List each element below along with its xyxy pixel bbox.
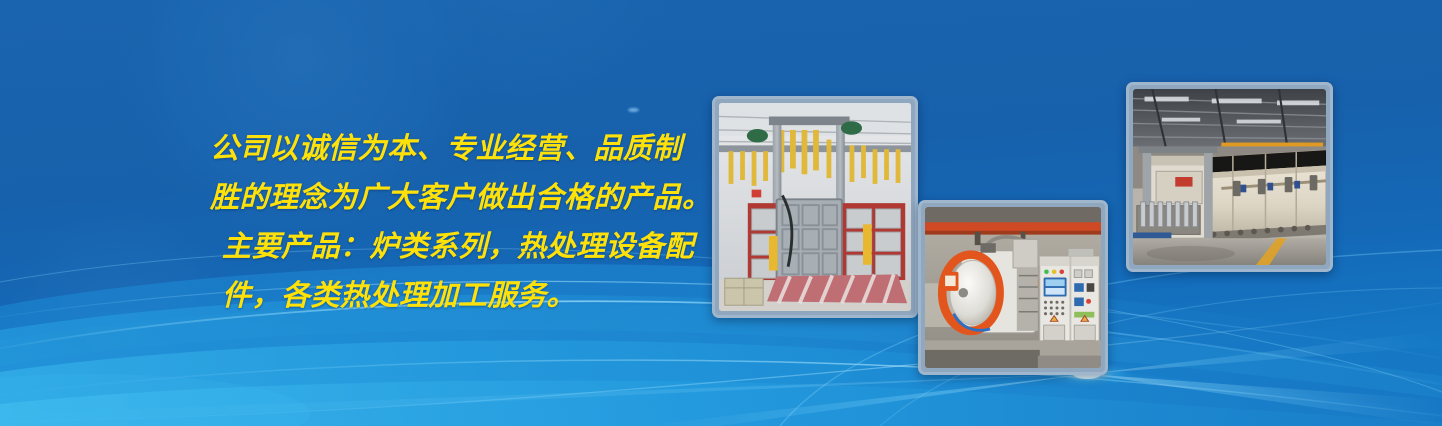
photo-vacuum-furnace[interactable] [918, 200, 1108, 375]
slogan-text-block: 公司以诚信为本、专业经营、品质制 胜的理念为广大客户做出合格的产品。 主要产品：… [210, 124, 730, 320]
slogan-line-4: 件，各类热处理加工服务。 [210, 271, 730, 320]
photo-continuous-furnace-line[interactable] [1126, 82, 1333, 272]
company-slogan-banner: 公司以诚信为本、专业经营、品质制 胜的理念为广大客户做出合格的产品。 主要产品：… [0, 0, 1442, 426]
photo-well-type-furnace-line[interactable] [712, 96, 918, 318]
slogan-line-3: 主要产品：炉类系列，热处理设备配 [210, 222, 730, 271]
slogan-line-2: 胜的理念为广大客户做出合格的产品。 [210, 173, 730, 222]
slogan-line-1: 公司以诚信为本、专业经营、品质制 [210, 124, 730, 173]
photo-1-image [719, 103, 911, 311]
light-speck-icon [628, 108, 639, 112]
photo-3-image [1133, 89, 1326, 265]
photo-2-image [925, 207, 1101, 368]
